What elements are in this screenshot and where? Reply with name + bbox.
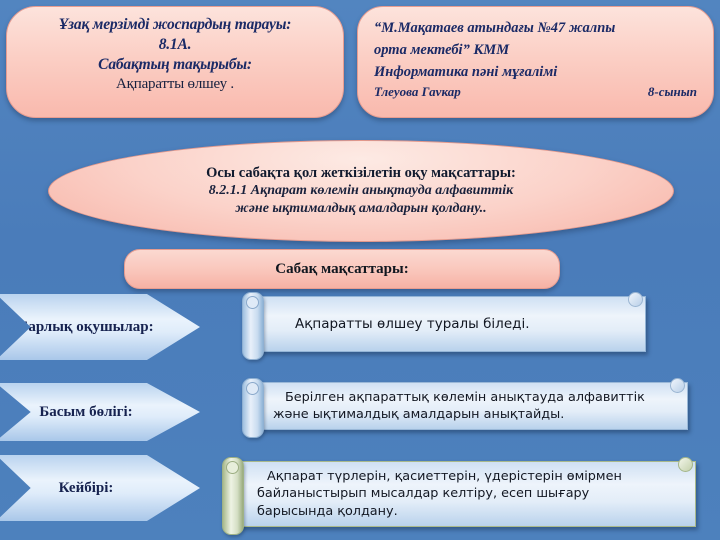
arrow-some-students-label: Кейбірі: — [49, 480, 148, 497]
lesson-goals-label: Сабақ мақсаттары: — [275, 261, 408, 278]
arrow-most-students: Басым бөлігі: — [0, 383, 200, 441]
learning-objectives-heading: Осы сабақта қол жеткізілетін оқу мақсатт… — [206, 164, 516, 182]
school-name-line-2: орта мектебі” КММ — [374, 39, 701, 61]
arrow-some-students: Кейбірі: — [0, 455, 200, 521]
scroll-curl-left-icon — [242, 378, 264, 438]
outcome-scroll-all-students: Ақпаратты өлшеу туралы біледі. — [236, 296, 646, 352]
lesson-topic-label: Сабақтың тақырыбы: — [19, 55, 331, 75]
scroll-curl-right-icon — [670, 378, 685, 393]
arrow-all-students: Барлық оқушылар: — [0, 294, 200, 360]
scroll-curl-left-icon — [242, 292, 264, 360]
outcome-text-line-1: Берілген ақпараттық көлемін анықтауда ал… — [273, 389, 677, 406]
outcome-text-line-2: және ықтималдық амалдарын анықтайды. — [273, 406, 677, 423]
outcome-text-line-1: Ақпаратты өлшеу туралы біледі. — [277, 315, 635, 333]
long-term-plan-section-code: 8.1А. — [19, 35, 331, 55]
grade-label: 8-сынып — [648, 83, 697, 101]
scroll-curl-right-icon — [628, 292, 643, 307]
scroll-curl-right-icon — [678, 457, 693, 472]
school-name-line-1: “М.Мақатаев атындағы №47 жалпы — [374, 17, 701, 39]
lesson-topic-value: Ақпаратты өлшеу . — [19, 75, 331, 95]
teacher-subject-line: Информатика пәні мұғалімі — [374, 61, 701, 83]
outcome-scroll-body: Ақпаратты өлшеу туралы біледі. — [254, 296, 646, 352]
outcome-scroll-body: Берілген ақпараттық көлемін анықтауда ал… — [254, 382, 688, 430]
teacher-name: Тлеуова Гаvкар — [374, 83, 461, 101]
scroll-curl-left-icon — [222, 457, 244, 535]
slide-canvas: Ұзақ мерзімді жоспардың тарауы: 8.1А. Са… — [0, 0, 720, 540]
outcome-scroll-most-students: Берілген ақпараттық көлемін анықтауда ал… — [236, 382, 688, 430]
teacher-grade-row: Тлеуова Гаvкар 8-сынып — [374, 83, 701, 101]
outcome-scroll-body: Ақпарат түрлерін, қасиеттерін, үдерістер… — [234, 461, 696, 527]
learning-objective-code-line: 8.2.1.1 Ақпарат көлемін анықтауда алфави… — [209, 182, 513, 200]
long-term-plan-section-line: Ұзақ мерзімді жоспардың тарауы: — [19, 15, 331, 35]
arrow-all-students-label: Барлық оқушылар: — [8, 319, 187, 336]
learning-objectives-oval: Осы сабақта қол жеткізілетін оқу мақсатт… — [48, 140, 674, 242]
outcome-text-line-1-span: Берілген ақпараттық көлемін анықтауда ал… — [273, 389, 645, 406]
school-info-box: “М.Мақатаев атындағы №47 жалпы орта мект… — [357, 6, 714, 118]
arrow-most-students-label: Басым бөлігі: — [29, 404, 166, 421]
outcome-text-line-1: Ақпарат түрлерін, қасиеттерін, үдерістер… — [257, 468, 685, 485]
outcome-scroll-some-students: Ақпарат түрлерін, қасиеттерін, үдерістер… — [216, 461, 696, 527]
lesson-goals-banner: Сабақ мақсаттары: — [124, 249, 560, 289]
lesson-title-box: Ұзақ мерзімді жоспардың тарауы: 8.1А. Са… — [6, 6, 344, 118]
learning-objective-continuation: және ықтималдық амалдарын қолдану.. — [235, 200, 486, 218]
outcome-text-line-2: байланыстырып мысалдар келтіру, есеп шығ… — [257, 485, 685, 502]
outcome-text-line-3: барысында қолдану. — [257, 503, 685, 520]
outcome-text-line-1-span: Ақпарат түрлерін, қасиеттерін, үдерістер… — [257, 468, 622, 485]
